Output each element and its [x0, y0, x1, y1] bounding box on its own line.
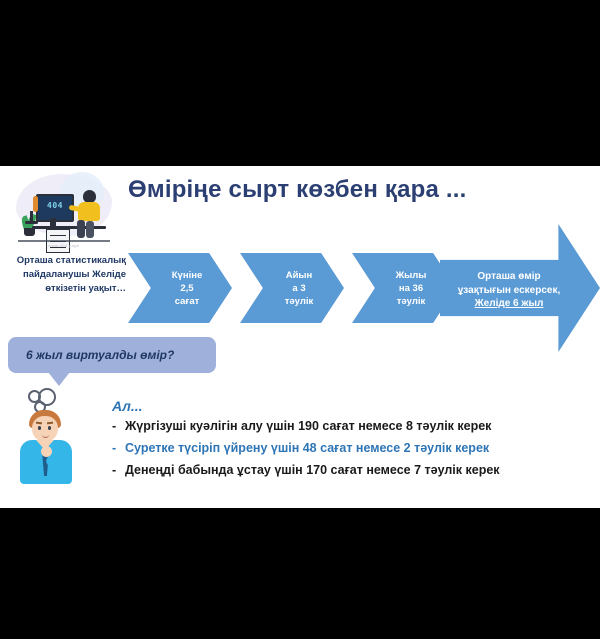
slide-canvas: 404 www.404.page	[0, 166, 600, 508]
flow-step-line: Күніне	[172, 269, 202, 282]
list-item-text: Суретке түсіріп үйрену үшін 48 сағат нем…	[125, 440, 489, 457]
flow-step-line: на 36	[396, 282, 427, 295]
flow-step-line: Жылы	[396, 269, 427, 282]
bullet-marker: -	[112, 462, 125, 479]
floor-line	[18, 240, 110, 242]
page-title: Өміріңе сырт көзбен қара ...	[128, 176, 548, 204]
list-item: - Денеңді бабында ұстау үшін 170 сағат н…	[112, 462, 582, 479]
flow-step-line: тәулік	[396, 295, 427, 308]
list-item: - Жүргізуші куәлігін алу үшін 190 сағат …	[112, 418, 582, 435]
fact-list: - Жүргізуші куәлігін алу үшін 190 сағат …	[112, 418, 582, 484]
office-chair	[26, 196, 39, 222]
thinking-boy-illustration	[12, 388, 82, 483]
boy-face	[32, 416, 58, 442]
flow-step-monthly: Айын а 3 тәулік	[240, 253, 344, 323]
bullet-marker: -	[112, 440, 125, 457]
flow-step-line: Айын	[285, 269, 314, 282]
bullet-marker: -	[112, 418, 125, 435]
callout-bubble: 6 жыл виртуалды өмір?	[8, 337, 216, 373]
flow-result-line: ұзақтығын ескерсек,	[444, 284, 574, 298]
flow-result-line: Орташа өмір	[444, 270, 574, 284]
callout-text: 6 жыл виртуалды өмір?	[8, 348, 174, 362]
seated-person	[74, 190, 108, 246]
flow-step-line: тәулік	[285, 295, 314, 308]
list-item-text: Жүргізуші куәлігін алу үшін 190 сағат не…	[125, 418, 491, 435]
flow-step-daily: Күніне 2,5 сағат	[128, 253, 232, 323]
list-item-text: Денеңді бабында ұстау үшін 170 сағат нем…	[125, 462, 500, 479]
monitor-404-text: 404	[38, 201, 72, 210]
flow-result-emphasis: Желіде 6 жыл	[475, 298, 544, 309]
flow-lead-label-line: Орташа статистикалық	[0, 254, 126, 268]
404-workspace-illustration: 404 www.404.page	[6, 170, 118, 248]
flow-step-line: а 3	[285, 282, 314, 295]
illustration-caption: www.404.page	[24, 243, 104, 248]
bottom-heading: Ал...	[112, 398, 143, 414]
flow-lead-label: Орташа статистикалық пайдаланушы Желіде …	[0, 254, 126, 296]
flow-lead-label-line: өткізетін уақыт…	[0, 282, 126, 296]
list-item: - Суретке түсіріп үйрену үшін 48 сағат н…	[112, 440, 582, 457]
boy-hand	[41, 446, 52, 457]
slide-header: 404 www.404.page	[0, 166, 600, 252]
flow-lead-label-line: пайдаланушы Желіде	[0, 268, 126, 282]
callout-tail-icon	[48, 372, 70, 386]
letterbox-stage: 404 www.404.page	[0, 0, 600, 639]
monitor-stand	[50, 218, 56, 226]
flow-result-text: Орташа өмір ұзақтығын ескерсек, Желіде 6…	[444, 270, 574, 311]
flow-step-line: 2,5	[172, 282, 202, 295]
flow-step-line: сағат	[172, 295, 202, 308]
process-flow: Орташа статистикалық пайдаланушы Желіде …	[0, 252, 600, 412]
